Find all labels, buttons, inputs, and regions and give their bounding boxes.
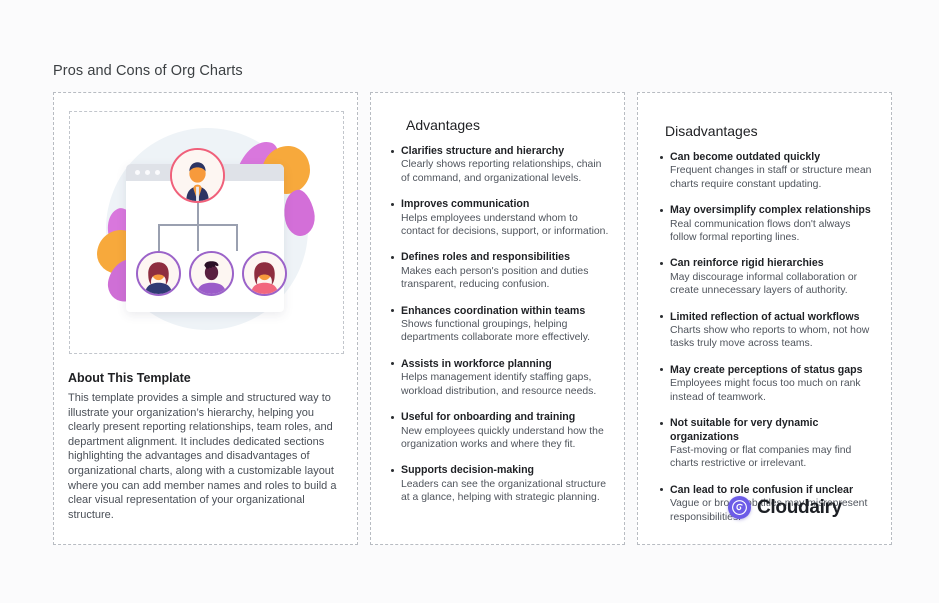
cloudairy-wordmark: Cloudairy xyxy=(757,497,842,519)
bullet-icon xyxy=(391,251,401,291)
list-item-description: Frequent changes in staff or structure m… xyxy=(670,164,876,191)
list-item-text: Improves communicationHelps employees un… xyxy=(401,198,609,238)
list-item-description: Real communication flows don't always fo… xyxy=(670,218,876,245)
connector-line xyxy=(197,224,199,251)
list-item-title: May create perceptions of status gaps xyxy=(670,364,876,377)
list-item-title: Can become outdated quickly xyxy=(670,151,876,164)
list-item-text: Defines roles and responsibilitiesMakes … xyxy=(401,251,609,291)
list-item: Useful for onboarding and trainingNew em… xyxy=(391,411,609,451)
list-item-text: Can become outdated quicklyFrequent chan… xyxy=(670,151,876,191)
list-item-text: Can reinforce rigid hierarchiesMay disco… xyxy=(670,257,876,297)
list-item-text: Limited reflection of actual workflowsCh… xyxy=(670,311,876,351)
advantages-list: Clarifies structure and hierarchyClearly… xyxy=(391,145,609,518)
list-item: Limited reflection of actual workflowsCh… xyxy=(660,311,876,351)
list-item: Clarifies structure and hierarchyClearly… xyxy=(391,145,609,185)
bullet-icon xyxy=(660,311,670,351)
list-item-description: New employees quickly understand how the… xyxy=(401,425,609,452)
list-item-text: Enhances coordination within teamsShows … xyxy=(401,305,609,345)
list-item: May oversimplify complex relationshipsRe… xyxy=(660,204,876,244)
list-item-description: Leaders can see the organizational struc… xyxy=(401,478,609,505)
document-page: Pros and Cons of Org Charts xyxy=(0,0,939,603)
list-item-title: Defines roles and responsibilities xyxy=(401,251,609,264)
illustration-frame xyxy=(69,111,344,354)
org-chart-illustration xyxy=(70,112,343,353)
list-item: Defines roles and responsibilitiesMakes … xyxy=(391,251,609,291)
team-member-avatar-1 xyxy=(136,251,181,296)
list-item-text: Supports decision-makingLeaders can see … xyxy=(401,464,609,504)
about-text-block: About This Template This template provid… xyxy=(68,371,345,522)
bullet-icon xyxy=(391,198,401,238)
team-member-avatar-2 xyxy=(189,251,234,296)
list-item-title: Improves communication xyxy=(401,198,609,211)
about-body-text: This template provides a simple and stru… xyxy=(68,391,345,522)
list-item: Supports decision-makingLeaders can see … xyxy=(391,464,609,504)
list-item-title: Enhances coordination within teams xyxy=(401,305,609,318)
bullet-icon xyxy=(391,464,401,504)
list-item: Improves communicationHelps employees un… xyxy=(391,198,609,238)
list-item-description: Charts show who reports to whom, not how… xyxy=(670,324,876,351)
page-title: Pros and Cons of Org Charts xyxy=(53,63,243,79)
list-item-title: Clarifies structure and hierarchy xyxy=(401,145,609,158)
list-item: May create perceptions of status gapsEmp… xyxy=(660,364,876,404)
list-item-text: Useful for onboarding and trainingNew em… xyxy=(401,411,609,451)
window-dot-icon xyxy=(135,170,140,175)
bullet-icon xyxy=(391,411,401,451)
list-item-title: Can reinforce rigid hierarchies xyxy=(670,257,876,270)
list-item: Enhances coordination within teamsShows … xyxy=(391,305,609,345)
about-template-card: About This Template This template provid… xyxy=(53,92,358,545)
list-item-text: Clarifies structure and hierarchyClearly… xyxy=(401,145,609,185)
bullet-icon xyxy=(660,364,670,404)
window-dot-icon xyxy=(155,170,160,175)
bullet-icon xyxy=(660,257,670,297)
list-item-description: May discourage informal collaboration or… xyxy=(670,271,876,298)
bullet-icon xyxy=(660,484,670,524)
disadvantages-card: Disadvantages Can become outdated quickl… xyxy=(637,92,892,545)
bullet-icon xyxy=(660,151,670,191)
list-item-description: Employees might focus too much on rank i… xyxy=(670,377,876,404)
window-dot-icon xyxy=(145,170,150,175)
connector-line xyxy=(236,224,238,251)
list-item-title: Not suitable for very dynamic organizati… xyxy=(670,417,876,444)
list-item: Assists in workforce planningHelps manag… xyxy=(391,358,609,398)
bullet-icon xyxy=(391,358,401,398)
list-item-description: Helps management identify staffing gaps,… xyxy=(401,371,609,398)
list-item: Can become outdated quicklyFrequent chan… xyxy=(660,151,876,191)
list-item-text: May create perceptions of status gapsEmp… xyxy=(670,364,876,404)
team-member-avatar-3 xyxy=(242,251,287,296)
list-item-title: Supports decision-making xyxy=(401,464,609,477)
list-item: Can reinforce rigid hierarchiesMay disco… xyxy=(660,257,876,297)
list-item-text: Not suitable for very dynamic organizati… xyxy=(670,417,876,471)
list-item: Not suitable for very dynamic organizati… xyxy=(660,417,876,471)
list-item-description: Fast-moving or flat companies may find c… xyxy=(670,444,876,471)
bullet-icon xyxy=(660,204,670,244)
bullet-icon xyxy=(391,145,401,185)
list-item-title: May oversimplify complex relationships xyxy=(670,204,876,217)
list-item-description: Helps employees understand whom to conta… xyxy=(401,212,609,239)
list-item-description: Makes each person's position and duties … xyxy=(401,265,609,292)
connector-line xyxy=(158,224,160,251)
about-heading: About This Template xyxy=(68,371,345,385)
list-item-title: Useful for onboarding and training xyxy=(401,411,609,424)
cloudairy-logo: Cloudairy xyxy=(728,496,842,519)
disadvantages-heading: Disadvantages xyxy=(665,123,758,139)
bullet-icon xyxy=(660,417,670,471)
leader-avatar xyxy=(170,148,225,203)
list-item-description: Shows functional groupings, helping depa… xyxy=(401,318,609,345)
advantages-heading: Advantages xyxy=(406,117,480,133)
cloudairy-mark-icon xyxy=(728,496,751,519)
list-item-title: Assists in workforce planning xyxy=(401,358,609,371)
list-item-text: May oversimplify complex relationshipsRe… xyxy=(670,204,876,244)
bullet-icon xyxy=(391,305,401,345)
list-item-description: Clearly shows reporting relationships, c… xyxy=(401,158,609,185)
list-item-title: Limited reflection of actual workflows xyxy=(670,311,876,324)
connector-line xyxy=(197,203,199,225)
list-item-text: Assists in workforce planningHelps manag… xyxy=(401,358,609,398)
disadvantages-list: Can become outdated quicklyFrequent chan… xyxy=(660,151,876,537)
advantages-card: Advantages Clarifies structure and hiera… xyxy=(370,92,625,545)
